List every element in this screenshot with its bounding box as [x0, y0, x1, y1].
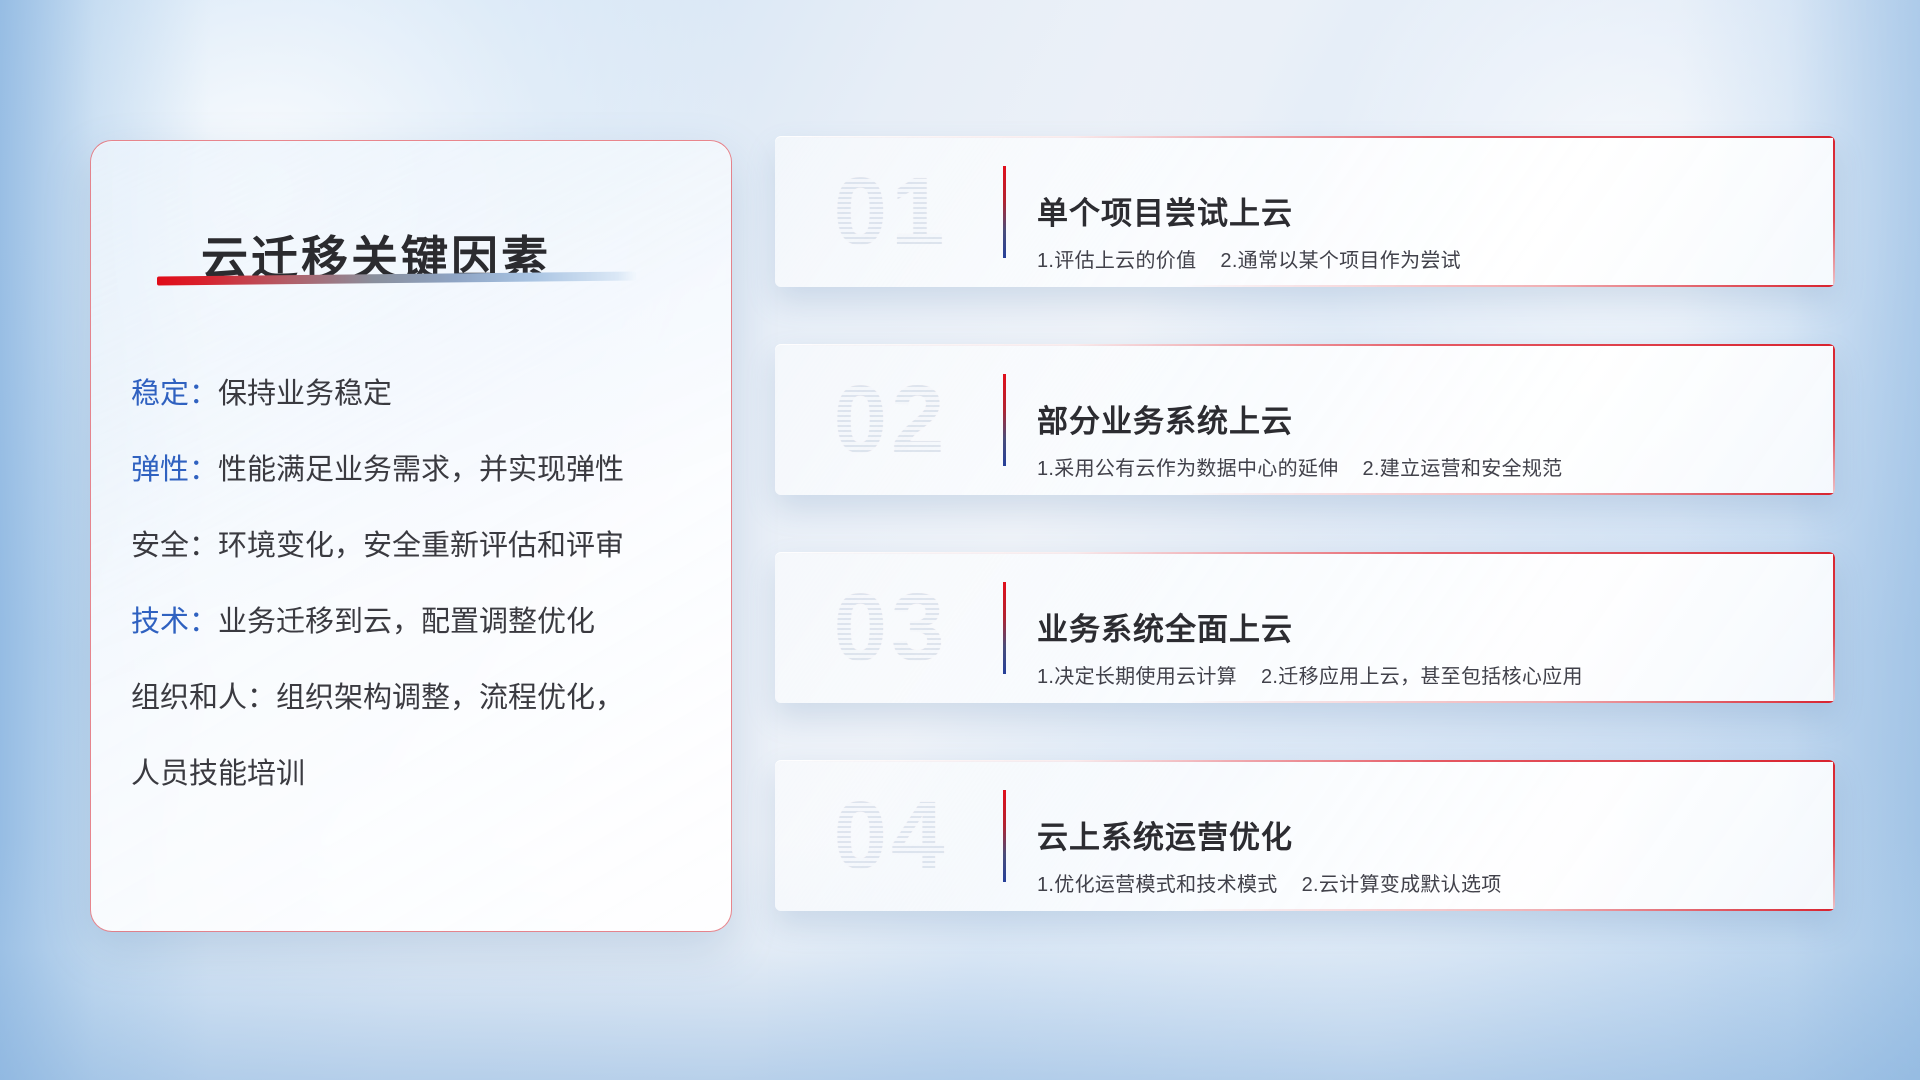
- key-factor-value: 保持业务稳定: [218, 378, 392, 410]
- key-factor-value: 人员技能培训: [131, 758, 305, 790]
- key-factor-row: 弹性：性能满足业务需求，并实现弹性: [131, 432, 705, 508]
- key-factor-row: 技术：业务迁移到云，配置调整优化: [131, 584, 705, 660]
- card-accent-top-border: [775, 344, 1835, 346]
- stage-description-part-2: 2.云计算变成默认选项: [1302, 874, 1502, 896]
- stage-description-part-1: 1.优化运营模式和技术模式: [1037, 874, 1278, 896]
- stage-description-part-2: 2.通常以某个项目作为尝试: [1220, 250, 1461, 272]
- key-factor-label: 技术：: [131, 606, 218, 638]
- stage-title: 云上系统运营优化: [1037, 812, 1293, 857]
- stage-description-part-1: 1.采用公有云作为数据中心的延伸: [1037, 458, 1338, 480]
- stage-number: 04: [801, 776, 981, 896]
- stage-description-part-1: 1.决定长期使用云计算: [1037, 666, 1237, 688]
- stage-description: 1.评估上云的价值2.通常以某个项目作为尝试: [1037, 244, 1461, 273]
- key-factor-row: 组织和人：组织架构调整，流程优化，: [131, 660, 705, 736]
- card-accent-top-border: [775, 760, 1835, 762]
- key-factors-panel: 云迁移关键因素 稳定：保持业务稳定弹性：性能满足业务需求，并实现弹性安全：环境变…: [90, 140, 732, 932]
- stage-description: 1.采用公有云作为数据中心的延伸2.建立运营和安全规范: [1037, 452, 1562, 481]
- stage-title: 部分业务系统上云: [1037, 396, 1293, 441]
- stage-number: 02: [801, 360, 981, 480]
- card-divider-bar: [1003, 166, 1006, 258]
- card-divider-bar: [1003, 790, 1006, 882]
- card-accent-right-border: [1833, 136, 1835, 287]
- stage-description: 1.优化运营模式和技术模式2.云计算变成默认选项: [1037, 868, 1502, 897]
- card-accent-bottom-border: [1178, 285, 1835, 287]
- stage-description-part-1: 1.评估上云的价值: [1037, 250, 1196, 272]
- card-accent-right-border: [1833, 760, 1835, 911]
- card-accent-bottom-border: [1178, 909, 1835, 911]
- stage-card[interactable]: 02部分业务系统上云1.采用公有云作为数据中心的延伸2.建立运营和安全规范: [775, 344, 1835, 495]
- card-divider-bar: [1003, 374, 1006, 466]
- stage-description-part-2: 2.迁移应用上云，甚至包括核心应用: [1261, 666, 1583, 688]
- key-factor-value: 业务迁移到云，配置调整优化: [218, 606, 595, 638]
- key-factor-label: 稳定：: [131, 378, 218, 410]
- key-factor-row: 人员技能培训: [131, 736, 705, 812]
- key-factors-list: 稳定：保持业务稳定弹性：性能满足业务需求，并实现弹性安全：环境变化，安全重新评估…: [131, 356, 705, 812]
- card-accent-top-border: [775, 136, 1835, 138]
- stage-title: 业务系统全面上云: [1037, 604, 1293, 649]
- key-factor-label: 组织和人：: [131, 682, 276, 714]
- key-factor-row: 安全：环境变化，安全重新评估和评审: [131, 508, 705, 584]
- slide-canvas: 云迁移关键因素 稳定：保持业务稳定弹性：性能满足业务需求，并实现弹性安全：环境变…: [0, 0, 1920, 1080]
- key-factor-value: 组织架构调整，流程优化，: [276, 682, 624, 714]
- key-factor-value: 性能满足业务需求，并实现弹性: [218, 454, 624, 486]
- key-factor-label: 弹性：: [131, 454, 218, 486]
- key-factor-row: 稳定：保持业务稳定: [131, 356, 705, 432]
- key-factor-value: 环境变化，安全重新评估和评审: [218, 530, 624, 562]
- stage-card[interactable]: 04云上系统运营优化1.优化运营模式和技术模式2.云计算变成默认选项: [775, 760, 1835, 911]
- stage-card[interactable]: 01单个项目尝试上云1.评估上云的价值2.通常以某个项目作为尝试: [775, 136, 1835, 287]
- card-divider-bar: [1003, 582, 1006, 674]
- migration-stage-cards: 01单个项目尝试上云1.评估上云的价值2.通常以某个项目作为尝试02部分业务系统…: [775, 136, 1835, 968]
- stage-description: 1.决定长期使用云计算2.迁移应用上云，甚至包括核心应用: [1037, 660, 1583, 689]
- card-accent-right-border: [1833, 552, 1835, 703]
- stage-description-part-2: 2.建立运营和安全规范: [1362, 458, 1562, 480]
- stage-title: 单个项目尝试上云: [1037, 188, 1293, 233]
- card-accent-bottom-border: [1178, 493, 1835, 495]
- stage-number: 01: [801, 152, 981, 272]
- key-factor-label: 安全：: [131, 530, 218, 562]
- card-accent-bottom-border: [1178, 701, 1835, 703]
- card-accent-right-border: [1833, 344, 1835, 495]
- card-accent-top-border: [775, 552, 1835, 554]
- stage-card[interactable]: 03业务系统全面上云1.决定长期使用云计算2.迁移应用上云，甚至包括核心应用: [775, 552, 1835, 703]
- stage-number: 03: [801, 568, 981, 688]
